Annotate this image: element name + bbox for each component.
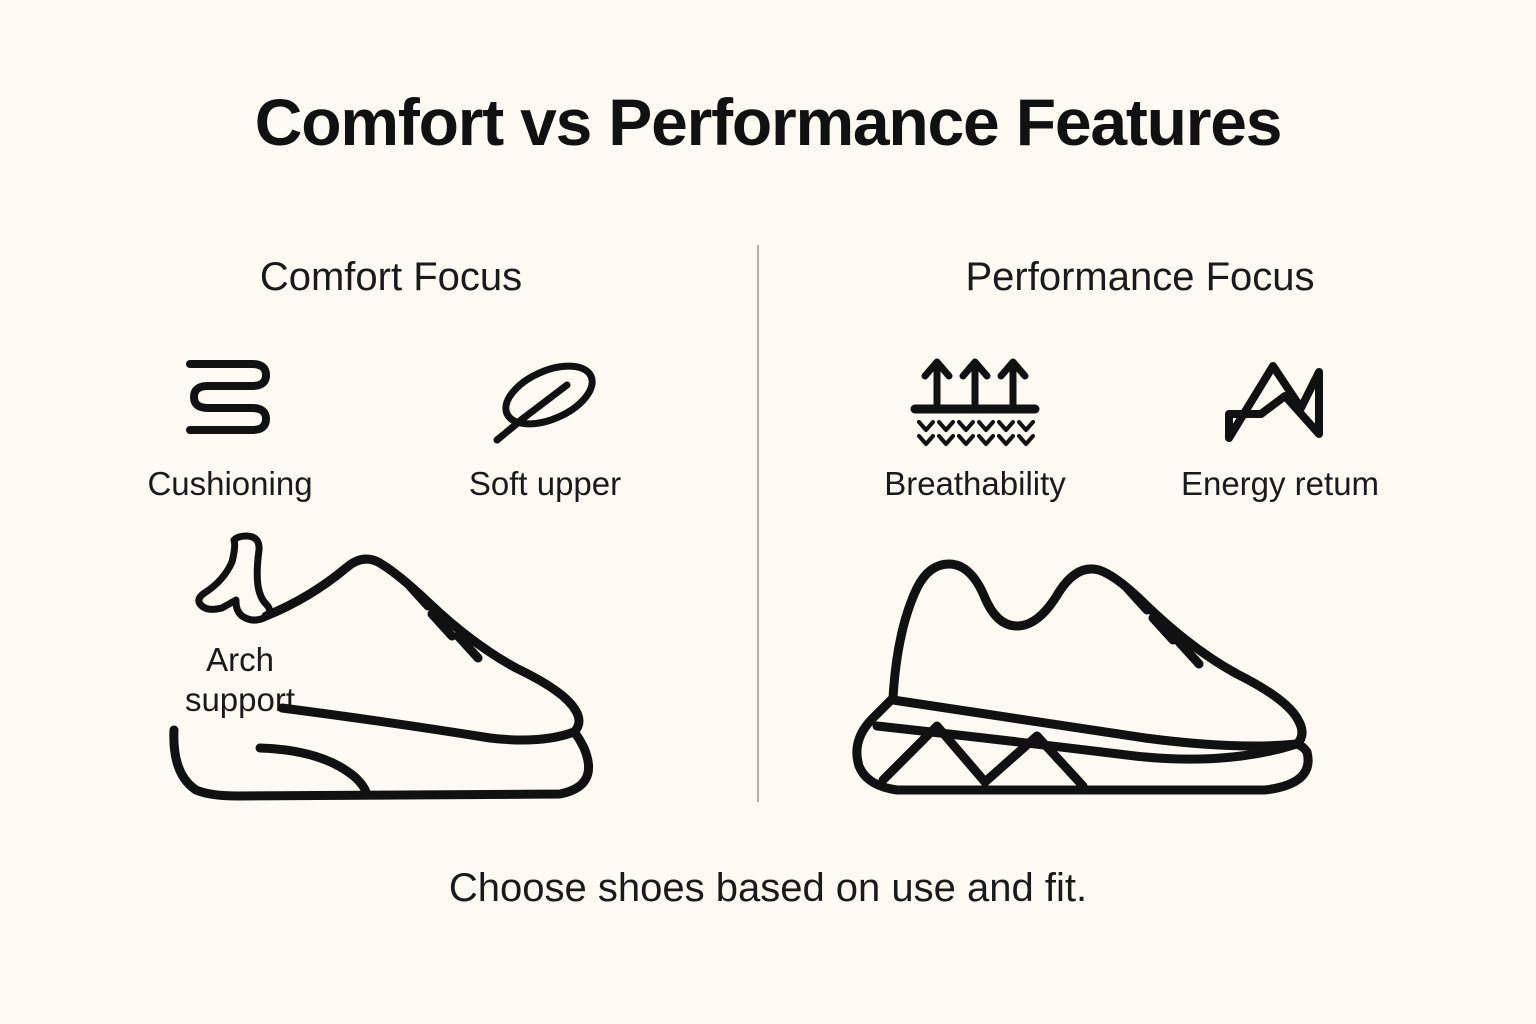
comfort-shoe-illustration (160, 540, 700, 805)
column-divider (757, 245, 759, 802)
feature-cushioning: Cushioning (110, 352, 350, 504)
column-header-performance: Performance Focus (840, 255, 1440, 300)
feather-icon (425, 352, 665, 452)
infographic-canvas: Comfort vs Performance Features Comfort … (0, 0, 1536, 1024)
feature-breathability: Breathability (855, 352, 1095, 504)
feature-soft-upper: Soft upper (425, 352, 665, 504)
feature-label-breathability: Breathability (855, 464, 1095, 504)
bounce-zigzag-icon (1160, 352, 1400, 452)
airflow-arrows-mesh-icon (855, 352, 1095, 452)
page-title: Comfort vs Performance Features (0, 84, 1536, 160)
performance-shoe-illustration (845, 540, 1405, 805)
feature-energy-return: Energy retum (1160, 352, 1400, 504)
column-header-comfort: Comfort Focus (96, 255, 686, 300)
feature-label-energy-return: Energy retum (1160, 464, 1400, 504)
footer-caption: Choose shoes based on use and fit. (0, 866, 1536, 911)
feature-label-soft-upper: Soft upper (425, 464, 665, 504)
feature-label-cushioning: Cushioning (110, 464, 350, 504)
spring-coil-icon (110, 352, 350, 452)
